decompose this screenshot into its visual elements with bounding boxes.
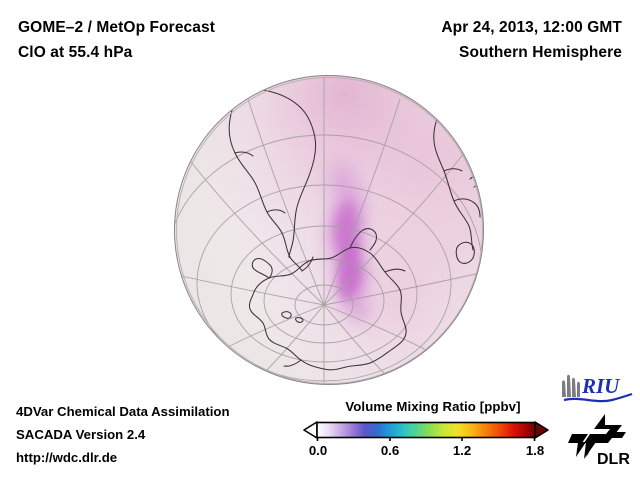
colorbar-tick-labels: 0.0 0.6 1.2 1.8	[318, 443, 536, 463]
globe-disc	[174, 75, 484, 385]
version-label: SACADA Version 2.4	[16, 423, 230, 446]
header-right: Apr 24, 2013, 12:00 GMT Southern Hemisph…	[441, 15, 622, 65]
figure-canvas: GOME–2 / MetOp Forecast ClO at 55.4 hPa …	[0, 0, 640, 480]
globe-field-and-geography	[174, 75, 484, 385]
colorbar-min-arrow	[304, 422, 317, 438]
dlr-wordmark: DLR	[597, 451, 630, 468]
colorbar-body	[317, 423, 535, 438]
colorbar-tick-2: 1.2	[453, 443, 471, 458]
header-left: GOME–2 / MetOp Forecast ClO at 55.4 hPa	[18, 15, 215, 65]
globe-map	[174, 75, 484, 385]
instrument-title: GOME–2 / MetOp Forecast	[18, 15, 215, 40]
colorbar: Volume Mixing Ratio [ppbv]	[300, 399, 550, 463]
colorbar-tick-1: 0.6	[381, 443, 399, 458]
riu-logo-mark: RIU	[558, 371, 636, 405]
colorbar-max-arrow	[535, 422, 548, 438]
dlr-logo-mark: DLR	[566, 412, 634, 470]
colorbar-tick-0: 0.0	[309, 443, 327, 458]
riu-wordmark: RIU	[581, 374, 621, 398]
website-link[interactable]: http://wdc.dlr.de	[16, 446, 230, 469]
hemisphere-label: Southern Hemisphere	[441, 40, 622, 65]
colorbar-strip	[300, 419, 550, 441]
species-level-title: ClO at 55.4 hPa	[18, 40, 215, 65]
colorbar-title: Volume Mixing Ratio [ppbv]	[316, 399, 550, 414]
colorbar-gradient	[300, 419, 550, 441]
timestamp-label: Apr 24, 2013, 12:00 GMT	[441, 15, 622, 40]
dlr-logo: DLR	[566, 412, 634, 470]
riu-bars-icon	[562, 375, 580, 397]
globe-data-field	[174, 75, 484, 385]
riu-logo: RIU	[558, 371, 636, 405]
footer-left: 4DVar Chemical Data Assimilation SACADA …	[16, 400, 230, 469]
colorbar-tick-3: 1.8	[526, 443, 544, 458]
method-label: 4DVar Chemical Data Assimilation	[16, 400, 230, 423]
